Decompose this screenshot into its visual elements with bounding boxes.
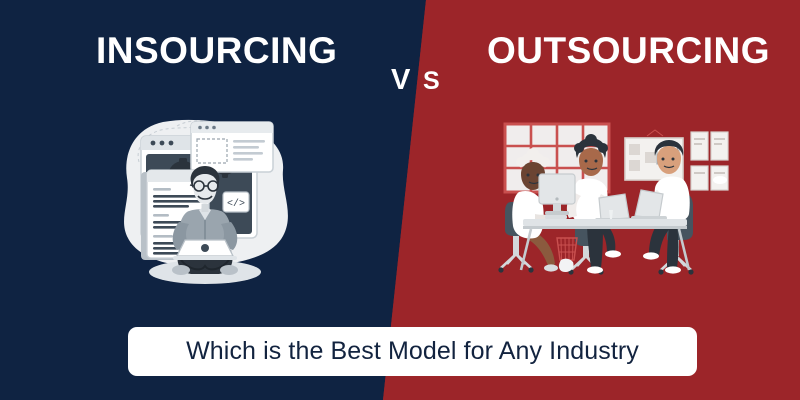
headline-insourcing: INSOURCING [96, 28, 337, 74]
window-dot-2 [160, 141, 165, 146]
code-badge: </> [223, 192, 249, 212]
person-left-eye-l [527, 174, 530, 177]
person-left-shoe [544, 264, 558, 271]
headline-vs-s: S [423, 64, 440, 98]
laptop-logo [201, 244, 209, 252]
sticky-note-1 [629, 144, 640, 155]
chair-left-legs [501, 254, 531, 268]
subtitle-banner: Which is the Best Model for Any Industry [128, 327, 697, 376]
wall-posters [691, 132, 728, 190]
person-middle-shoe-r [605, 250, 621, 257]
person-right-eye-l [662, 158, 665, 161]
subtitle-text: Which is the Best Model for Any Industry [186, 337, 639, 366]
headline-outsourcing: OUTSOURCING [487, 28, 770, 74]
shoe-left [172, 265, 190, 275]
person-middle-eye-r [595, 160, 598, 163]
person-right-shoe-r [665, 266, 681, 273]
browser-window-top [191, 122, 273, 172]
monitor-stand [553, 204, 561, 212]
glasses-temple [190, 185, 194, 186]
poster-graphic [713, 176, 727, 184]
person-middle-eye-l [585, 160, 588, 163]
keyboard [545, 215, 567, 219]
person-right-shoe-l [643, 252, 659, 259]
document-text-lines [153, 188, 171, 191]
outsourcing-team-illustration [495, 118, 735, 283]
monitor-base [545, 211, 569, 215]
code-badge-glyph: </> [227, 198, 245, 210]
poster-canvas: INSOURCING V S OUTSOURCING [0, 0, 800, 400]
whiteboard-hanger [647, 130, 663, 136]
headline-vs-v: V [391, 62, 410, 98]
window-dot-3 [169, 141, 174, 146]
laptop-edge [173, 256, 237, 260]
sticky-note-2 [629, 160, 640, 171]
sticky-note-3 [645, 152, 656, 163]
window-dot-1 [151, 141, 156, 146]
headline: INSOURCING V S OUTSOURCING [0, 28, 800, 74]
insourcing-developer-illustration: </> [105, 100, 305, 290]
person-middle-shoe-l [587, 266, 603, 273]
laptop-middle [595, 194, 633, 222]
shoe-right [220, 265, 238, 275]
person-right-eye-r [672, 158, 675, 161]
